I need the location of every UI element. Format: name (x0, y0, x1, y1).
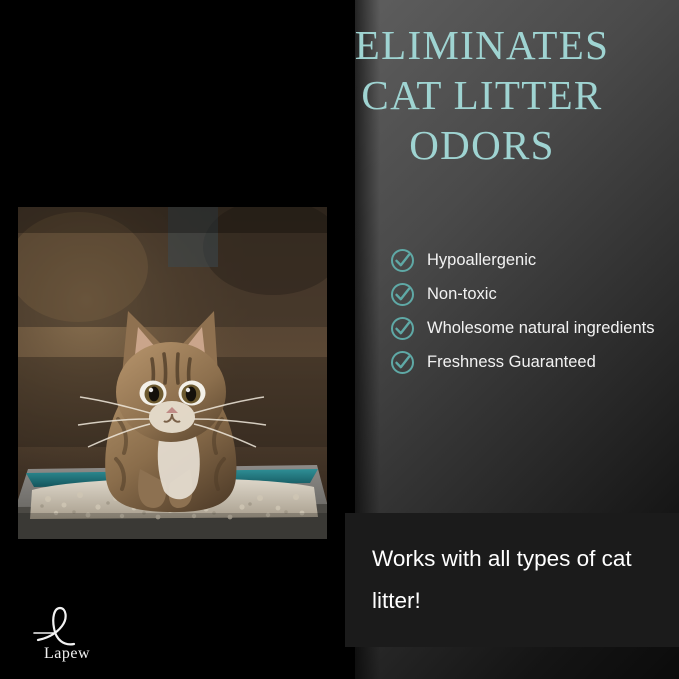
list-item: Hypoallergenic (390, 248, 670, 273)
feature-label: Non-toxic (427, 282, 497, 306)
feature-label: Wholesome natural ingredients (427, 316, 654, 340)
ad-creative: ELIMINATES CAT LITTER ODORS (0, 0, 679, 679)
list-item: Wholesome natural ingredients (390, 316, 670, 341)
feature-list: Hypoallergenic Non-toxic Wholesome natur… (390, 248, 670, 384)
headline-line-3: ODORS (296, 120, 668, 170)
feature-label: Freshness Guaranteed (427, 350, 596, 374)
brand-logo: Lapew (32, 600, 152, 662)
list-item: Non-toxic (390, 282, 670, 307)
headline: ELIMINATES CAT LITTER ODORS (296, 20, 668, 170)
headline-line-2: CAT LITTER (296, 70, 668, 120)
callout-panel: Works with all types of cat litter! (345, 513, 679, 647)
check-circle-icon (390, 316, 415, 341)
check-circle-icon (390, 282, 415, 307)
callout-text: Works with all types of cat litter! (372, 538, 662, 622)
brand-name: Lapew (44, 645, 90, 662)
list-item: Freshness Guaranteed (390, 350, 670, 375)
check-circle-icon (390, 350, 415, 375)
headline-line-1: ELIMINATES (296, 20, 668, 70)
check-circle-icon (390, 248, 415, 273)
cat-photo (18, 207, 327, 539)
feature-label: Hypoallergenic (427, 248, 536, 272)
